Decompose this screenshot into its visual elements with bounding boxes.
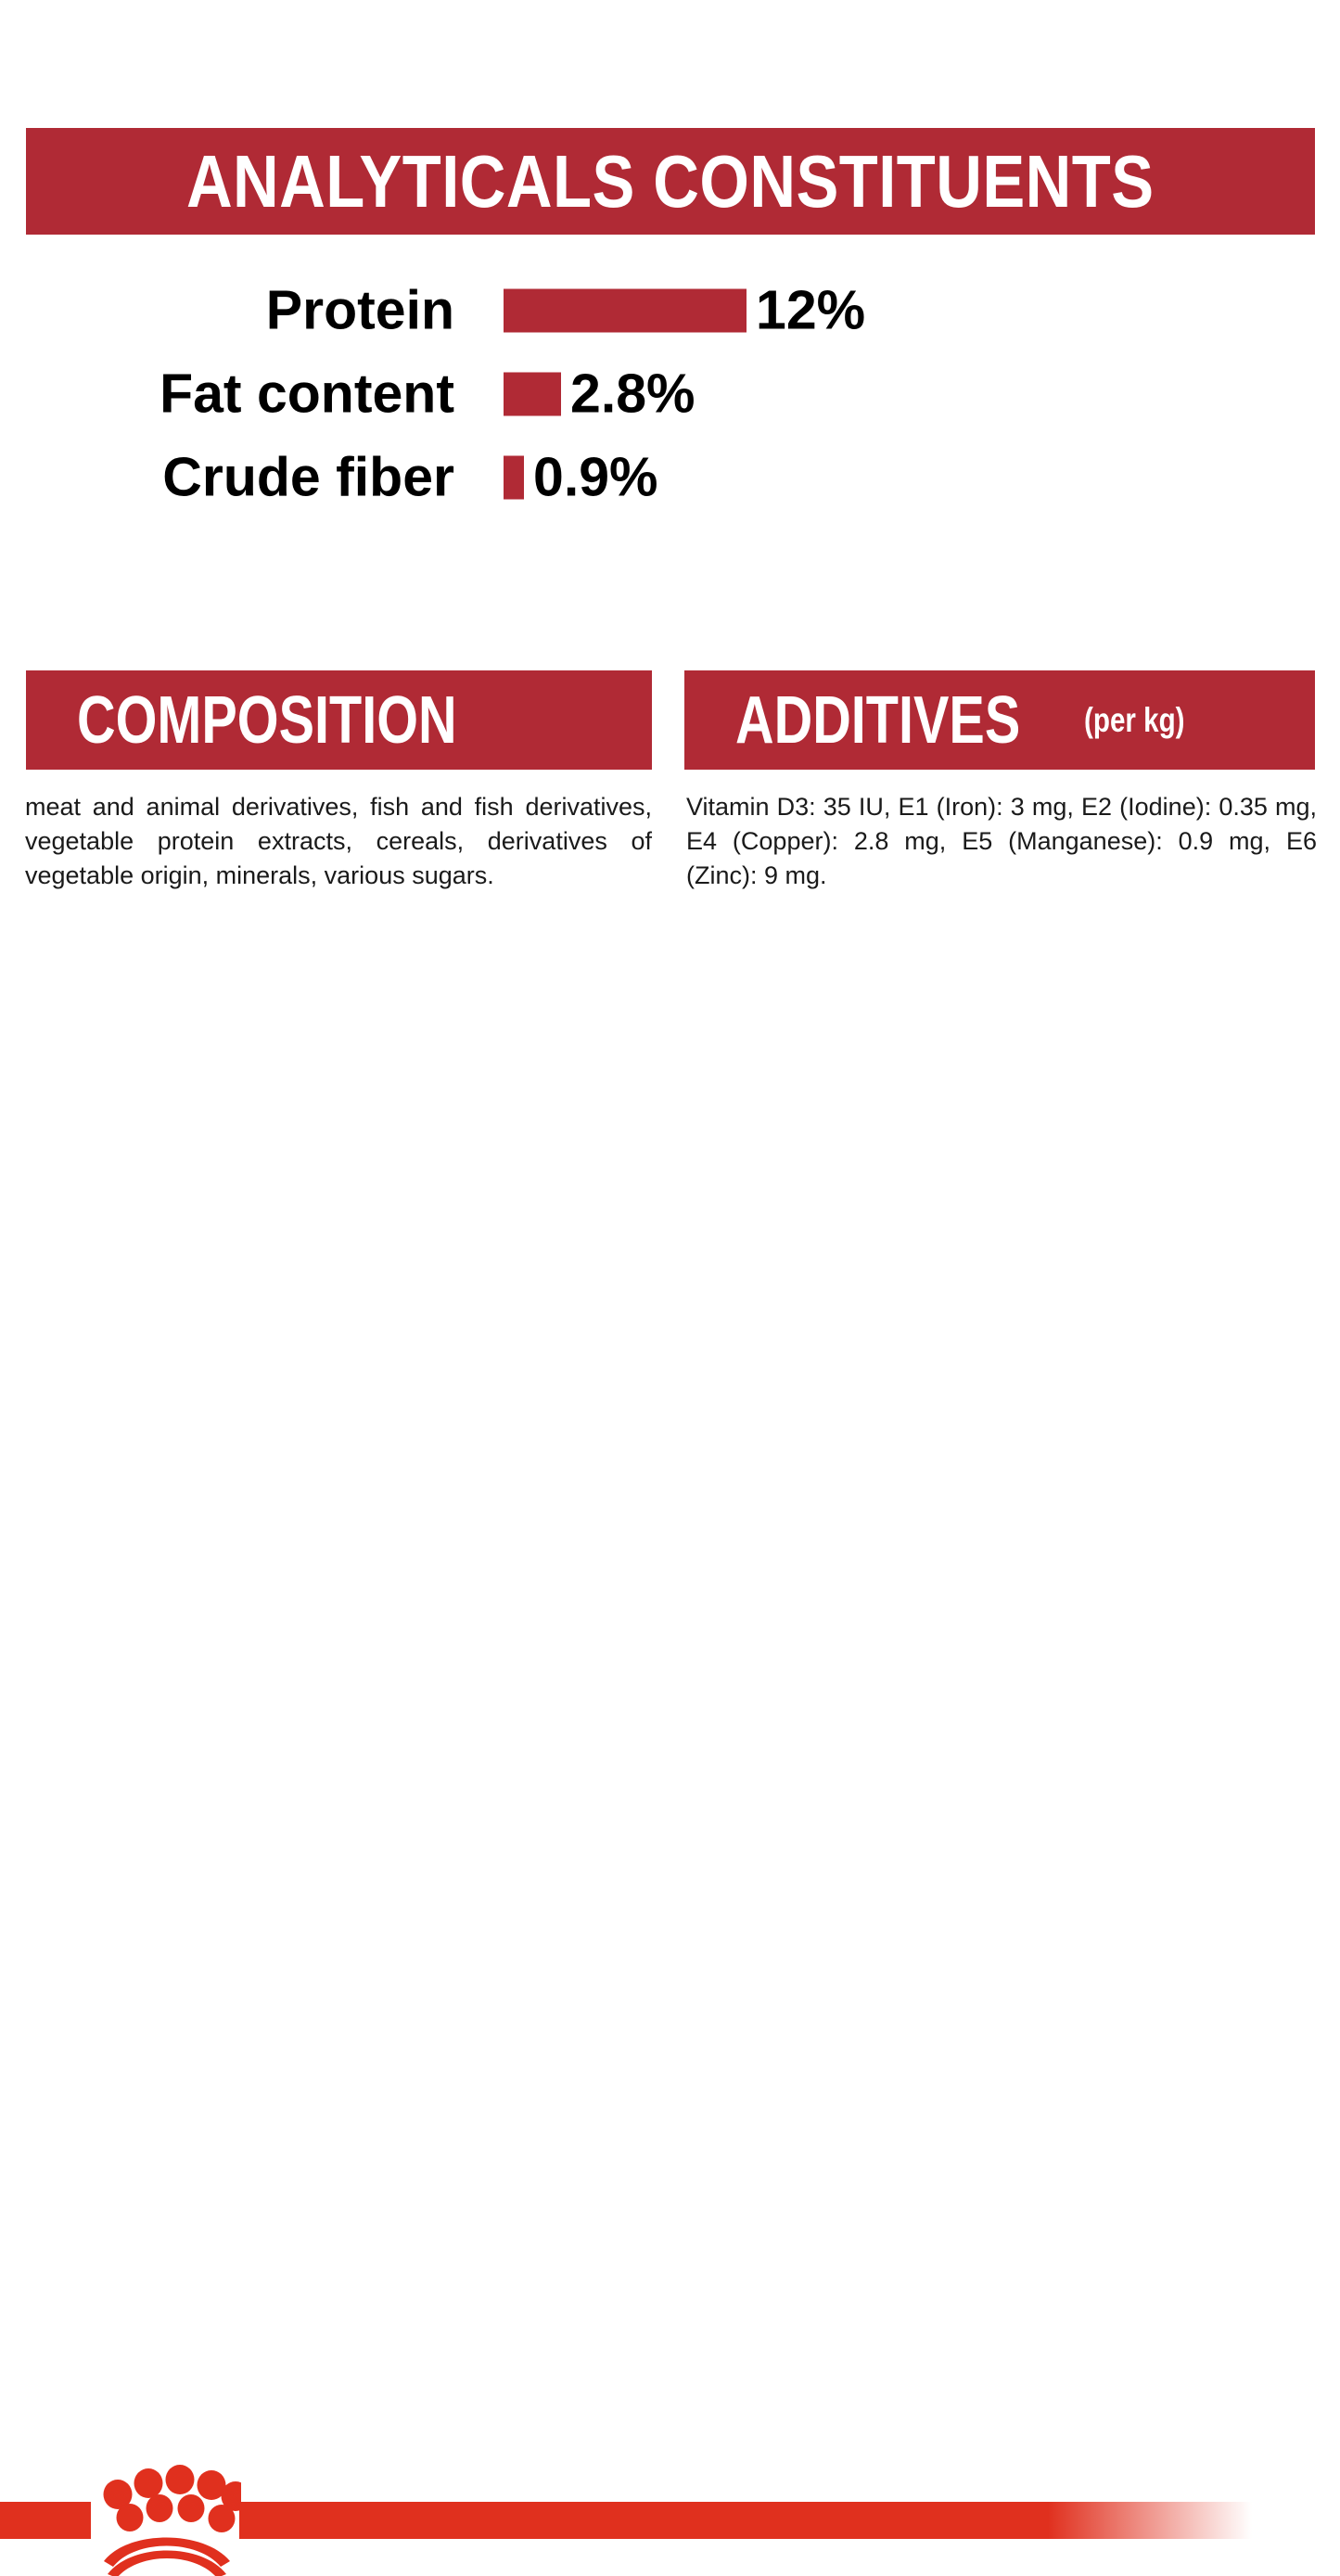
constituent-row: Fat content 2.8% <box>0 352 1340 436</box>
constituents-chart: Protein 12% Fat content 2.8% Crude fiber… <box>0 269 1340 519</box>
additives-header-suffix: (per kg) <box>1084 703 1185 737</box>
royal-canin-crown-icon <box>91 2465 241 2576</box>
analyticals-constituents-header: ANALYTICALS CONSTITUENTS <box>26 128 1315 235</box>
constituent-row: Protein 12% <box>0 269 1340 352</box>
constituent-label-fat-content: Fat content <box>160 367 454 422</box>
constituent-bar-group-crude-fiber: 0.9% <box>504 451 657 505</box>
constituent-label-crude-fiber: Crude fiber <box>162 451 454 505</box>
constituent-bar-fat-content <box>504 373 561 416</box>
constituent-value-crude-fiber: 0.9% <box>533 451 657 505</box>
constituent-bar-protein <box>504 289 747 333</box>
constituent-bar-crude-fiber <box>504 456 524 500</box>
constituent-value-protein: 12% <box>756 284 865 338</box>
brand-band-left-segment <box>0 2502 91 2539</box>
constituent-bar-group-protein: 12% <box>504 284 865 338</box>
additives-header-title: ADDITIVES <box>735 687 1020 754</box>
constituent-label-protein: Protein <box>266 284 454 338</box>
analyticals-header-title: ANALYTICALS CONSTITUENTS <box>186 145 1155 219</box>
constituent-value-fat-content: 2.8% <box>570 367 695 422</box>
brand-band-right-segment <box>239 2502 1340 2539</box>
composition-body-text: meat and animal derivatives, fish and fi… <box>25 790 652 893</box>
composition-header: COMPOSITION <box>26 670 652 770</box>
additives-body-text: Vitamin D3: 35 IU, E1 (Iron): 3 mg, E2 (… <box>686 790 1317 893</box>
footer-brand-band <box>0 1243 1340 1340</box>
composition-header-title: COMPOSITION <box>77 687 457 754</box>
constituent-row: Crude fiber 0.9% <box>0 436 1340 519</box>
additives-header: ADDITIVES (per kg) <box>684 670 1315 770</box>
constituent-bar-group-fat-content: 2.8% <box>504 367 695 422</box>
